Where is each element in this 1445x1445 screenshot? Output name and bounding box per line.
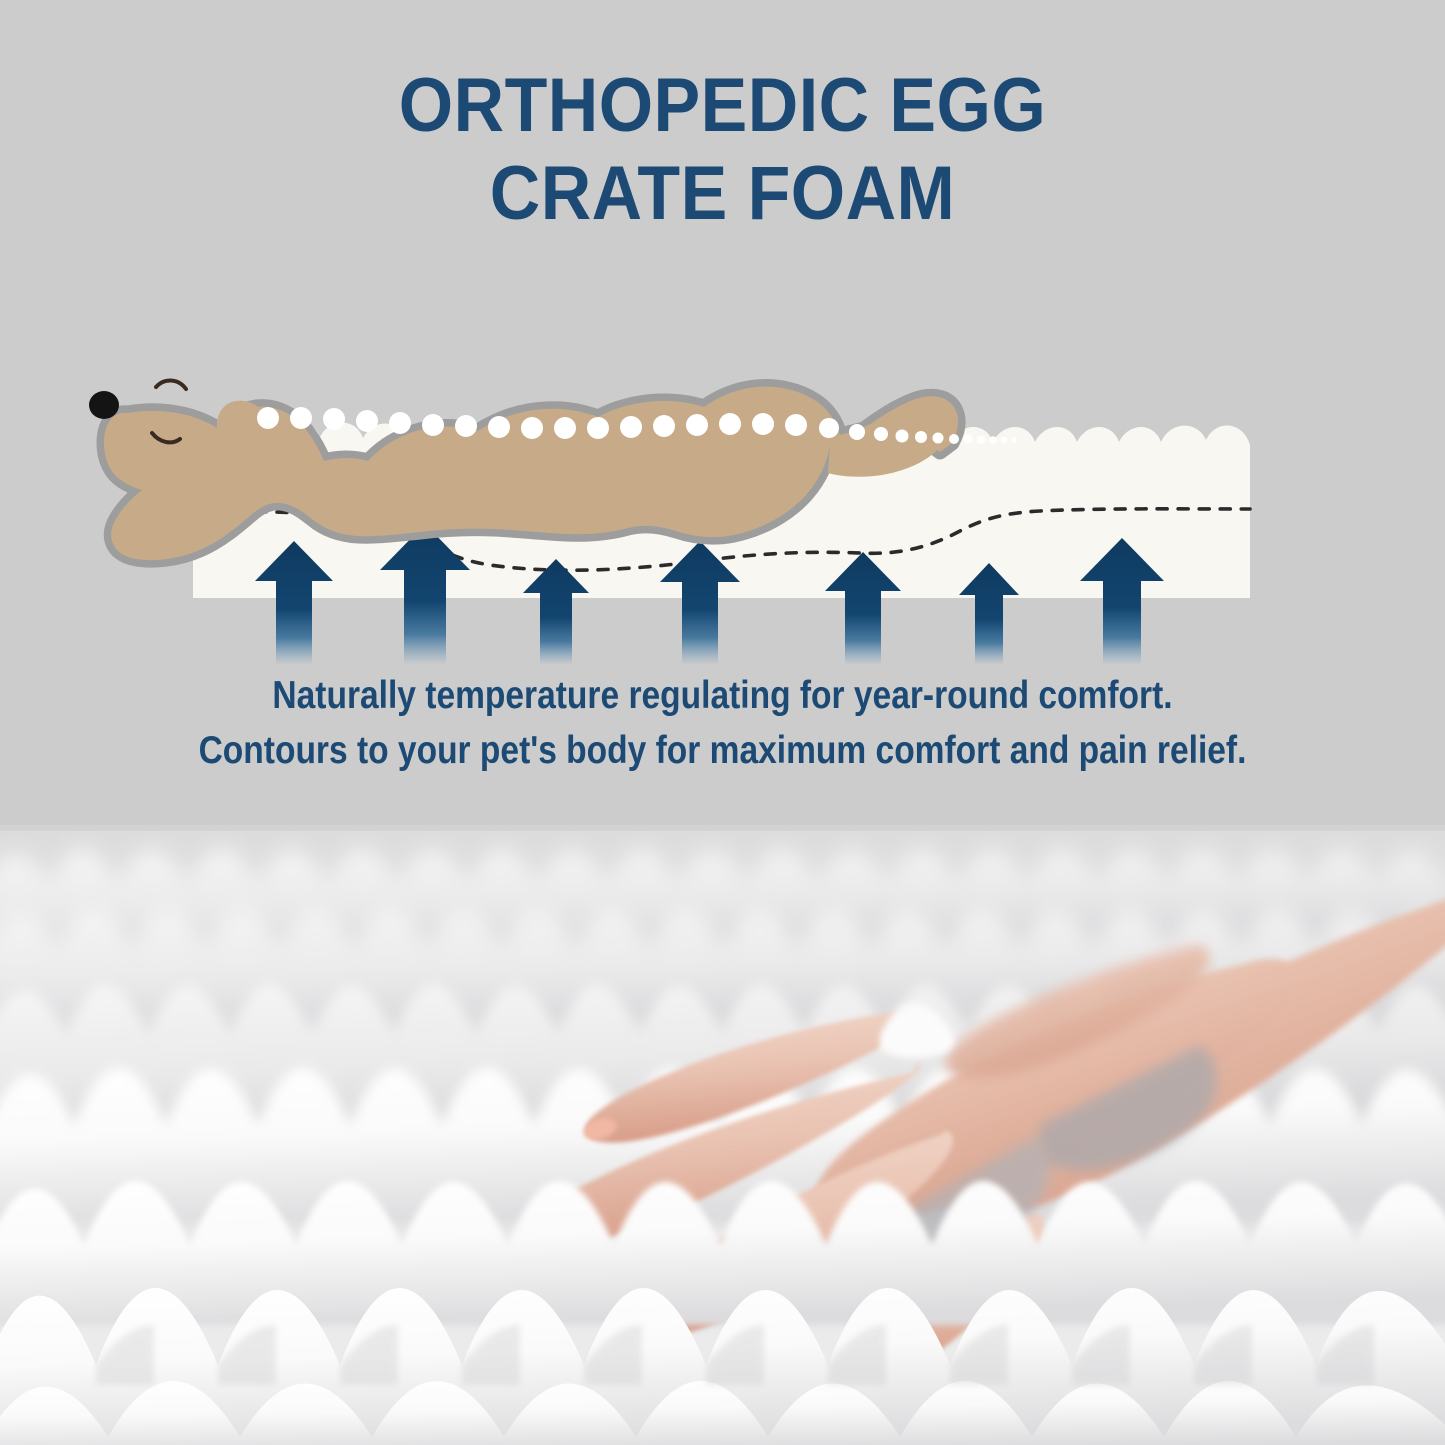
info-panel: ORTHOPEDIC EGG CRATE FOAM <box>0 0 1445 825</box>
foam-illustration <box>0 285 1445 665</box>
product-infographic: ORTHOPEDIC EGG CRATE FOAM <box>0 0 1445 1445</box>
page-title: ORTHOPEDIC EGG CRATE FOAM <box>0 62 1445 238</box>
foam-photo <box>0 825 1445 1445</box>
caption-block: Naturally temperature regulating for yea… <box>0 668 1445 778</box>
photo-top-edge-blend <box>0 825 1445 831</box>
caption-line-1: Naturally temperature regulating for yea… <box>101 668 1344 723</box>
caption-line-2: Contours to your pet's body for maximum … <box>101 723 1344 778</box>
title-line-1: ORTHOPEDIC EGG <box>58 62 1387 150</box>
title-line-2: CRATE FOAM <box>58 150 1387 238</box>
dog-nose <box>89 391 119 419</box>
dog-eye-closed <box>156 380 186 389</box>
